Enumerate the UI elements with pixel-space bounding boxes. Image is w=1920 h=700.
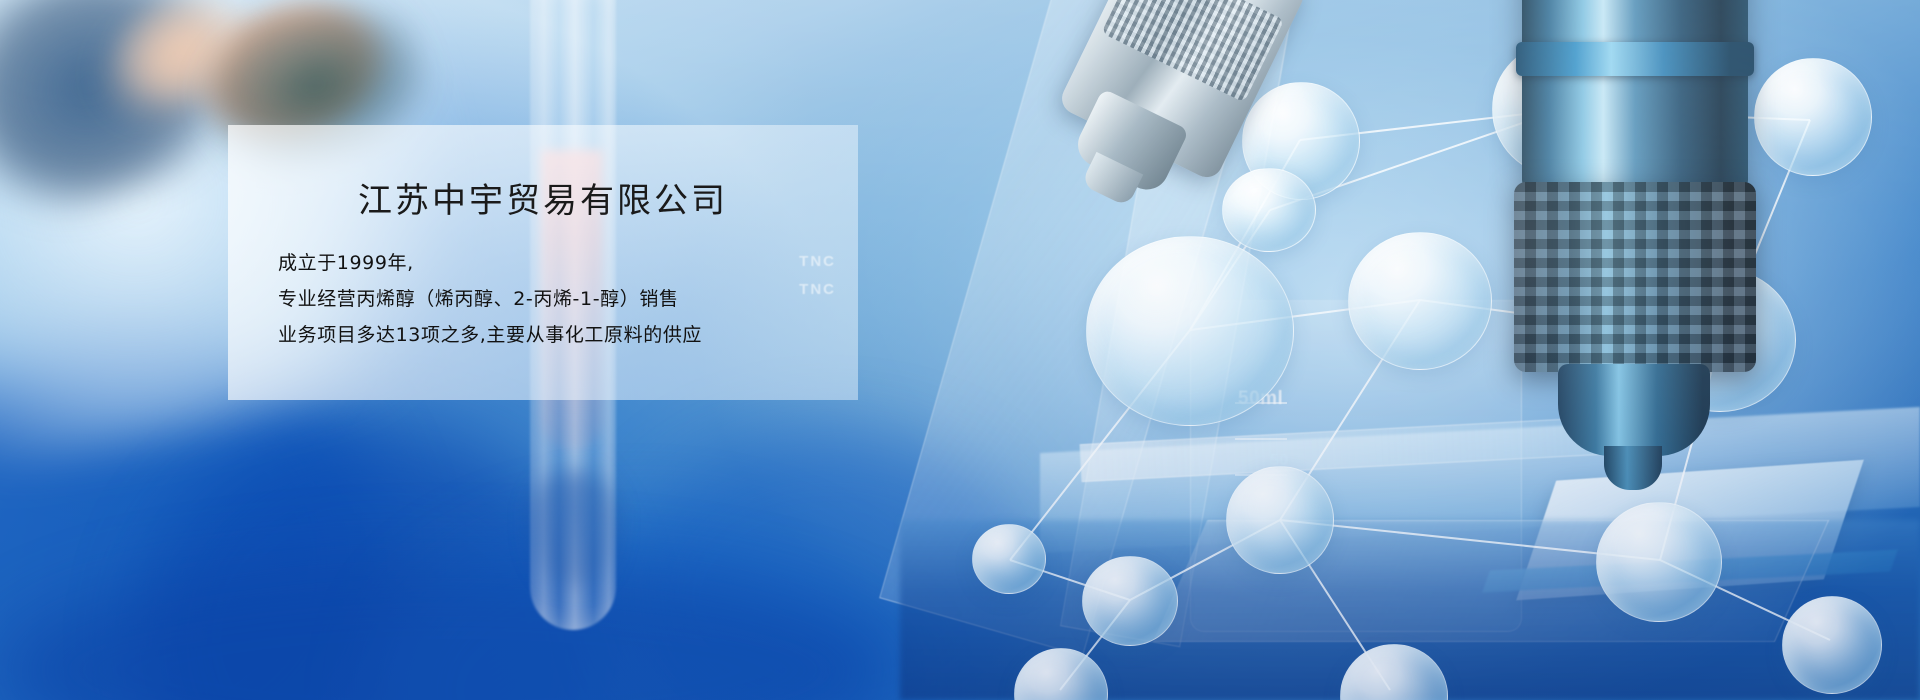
- microscope-lens-tip: [1604, 446, 1662, 490]
- description-line-1: 成立于1999年,: [278, 245, 848, 281]
- molecule-node: [972, 524, 1046, 594]
- company-description: 成立于1999年, 专业经营丙烯醇（烯丙醇、2-丙烯-1-醇）销售 业务项目多达…: [278, 245, 848, 353]
- molecule-node: [1348, 232, 1492, 370]
- molecule-node: [1596, 502, 1722, 622]
- microscope-icon: [1500, 0, 1770, 510]
- test-tube-base-shadow: [528, 470, 620, 590]
- molecule-node: [1782, 596, 1882, 694]
- hero-banner: 50ml 50: [0, 0, 1920, 700]
- description-line-3: 业务项目多达13项之多,主要从事化工原料的供应: [278, 317, 848, 353]
- microscope-ring: [1516, 42, 1754, 76]
- molecule-node: [1754, 58, 1872, 176]
- microscope-knurled-grip: [1514, 182, 1756, 372]
- microscope-nosepiece: [1558, 364, 1710, 456]
- molecule-node: [1086, 236, 1294, 426]
- company-title: 江苏中宇贸易有限公司: [228, 173, 858, 222]
- molecule-node: [1082, 556, 1178, 646]
- molecule-node: [1226, 466, 1334, 574]
- intro-panel: TNC TNC 江苏中宇贸易有限公司 成立于1999年, 专业经营丙烯醇（烯丙醇…: [228, 125, 858, 400]
- description-line-2: 专业经营丙烯醇（烯丙醇、2-丙烯-1-醇）销售: [278, 281, 848, 317]
- molecule-node: [1222, 168, 1316, 252]
- microscope-barrel: [1522, 0, 1748, 190]
